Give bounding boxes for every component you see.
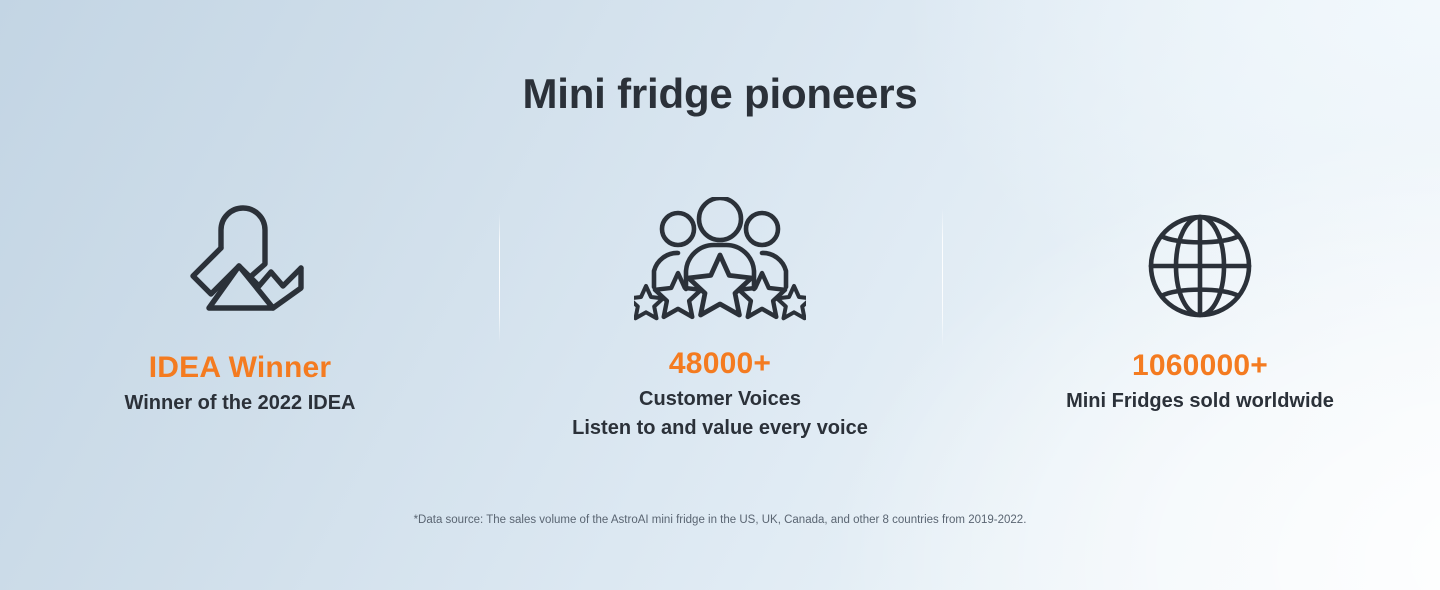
mini-fridge-pioneers-banner: Mini fridge pioneers IDEA Winner Wi (0, 0, 1440, 590)
stat-block-units-sold: 1060000+ Mini Fridges sold worldwide (960, 196, 1440, 415)
stat-caption-line-1: Mini Fridges sold worldwide (1066, 388, 1334, 415)
stat-value: 48000+ (669, 346, 771, 382)
globe-icon (1147, 202, 1253, 330)
stat-caption-line-1: Customer Voices (639, 386, 801, 413)
stat-block-idea-winner: IDEA Winner Winner of the 2022 IDEA (0, 196, 480, 417)
page-title: Mini fridge pioneers (0, 68, 1440, 120)
stat-block-customer-voices: 48000+ Customer Voices Listen to and val… (480, 196, 960, 442)
stats-row: IDEA Winner Winner of the 2022 IDEA (0, 196, 1440, 456)
data-source-footnote: *Data source: The sales volume of the As… (0, 512, 1440, 528)
stat-value: IDEA Winner (149, 350, 332, 386)
stat-caption-line-1: Winner of the 2022 IDEA (125, 390, 356, 417)
customer-voices-stars-icon (634, 196, 806, 324)
idea-award-icon (167, 198, 313, 326)
stat-value: 1060000+ (1132, 348, 1268, 384)
stat-caption-line-2: Listen to and value every voice (572, 415, 868, 442)
